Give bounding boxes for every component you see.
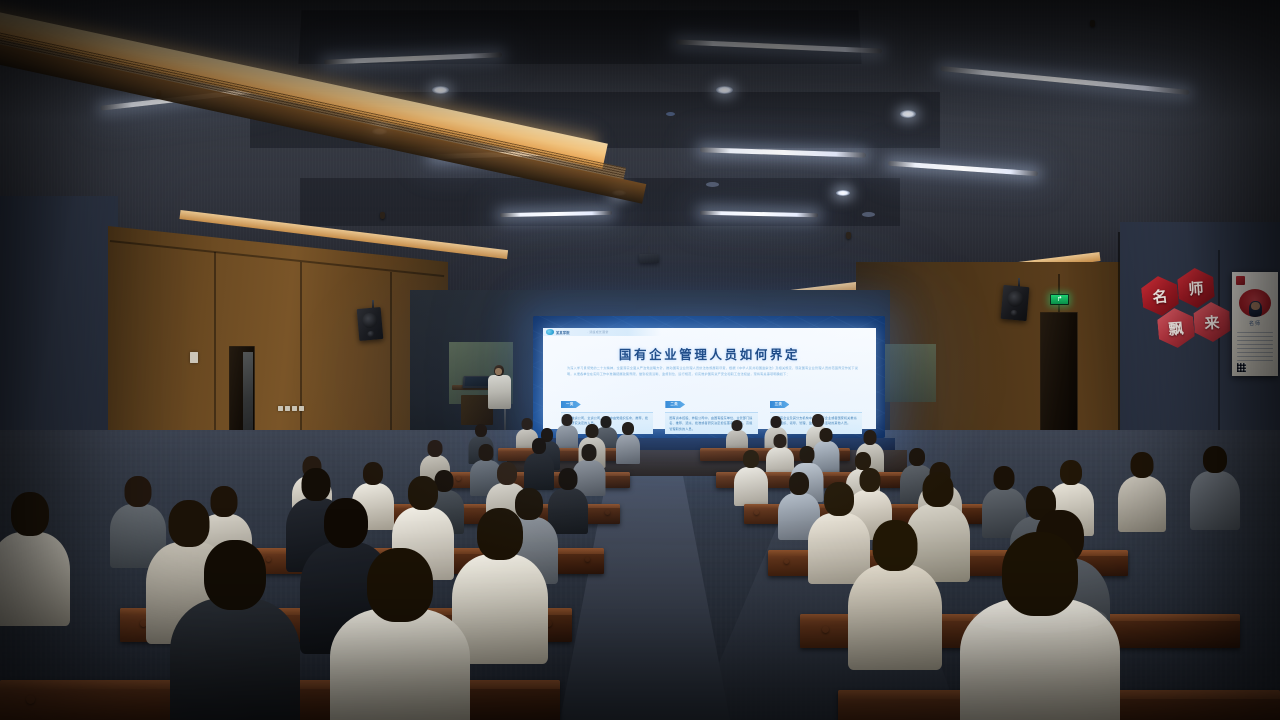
person-head [824, 482, 854, 516]
person-torso [170, 598, 300, 720]
person-head [1203, 446, 1227, 473]
person-head [732, 420, 743, 431]
poster-text-lines [1237, 332, 1273, 364]
smoke-detector-icon [706, 182, 719, 187]
person-head [864, 430, 877, 445]
person-head [799, 446, 814, 463]
slide-box-tag: 三类 [770, 401, 790, 408]
person-torso [960, 598, 1120, 720]
bench-knob [754, 510, 759, 515]
audience-member [0, 492, 70, 626]
banner-hex-4: 来 [1193, 301, 1231, 343]
slide-logo-icon [546, 329, 554, 334]
person-head [522, 418, 533, 430]
speaker-cone-icon [362, 312, 378, 328]
speaker-tweeter-icon [1010, 310, 1017, 317]
person-head [559, 468, 578, 490]
person-head [743, 450, 759, 468]
banner-hex-char: 师 [1188, 277, 1204, 299]
person-torso [330, 608, 470, 720]
person-torso [734, 467, 768, 506]
person-head [1131, 452, 1154, 478]
slide-title: 国有企业管理人员如何界定 [543, 344, 876, 363]
slide-logo-subtext: · 清廉成长课堂 [587, 330, 609, 334]
audience-member-foreground [960, 532, 1120, 720]
person-head [477, 508, 523, 560]
person-head [324, 498, 368, 548]
person-head [770, 416, 781, 428]
person-head [789, 472, 809, 495]
person-head [363, 462, 383, 485]
person-head [581, 444, 596, 461]
speaker-left [357, 307, 384, 341]
presenter-body [488, 375, 511, 409]
banner-hex-char: 名 [1151, 285, 1168, 307]
wall-outlet-row-left[interactable] [278, 406, 304, 411]
person-head [367, 548, 433, 622]
person-head [873, 520, 918, 571]
audience-member-foreground [330, 548, 470, 720]
conference-hall-photo: ↱ 名 师 飘 来 名师 [0, 0, 1280, 720]
poster-seal-icon [1236, 276, 1245, 285]
slide-box-tag: 二类 [665, 401, 685, 408]
smoke-detector-icon [862, 212, 875, 217]
projector-mount [648, 246, 650, 254]
audience-member [1190, 446, 1240, 530]
audience-member-foreground [170, 540, 300, 720]
wall-outlet[interactable] [299, 406, 304, 411]
person-head [622, 422, 634, 435]
person-head [204, 540, 266, 610]
poster-name-label: 名师 [1232, 320, 1278, 327]
person-head [302, 468, 331, 501]
banner-hex-char: 来 [1204, 311, 1220, 333]
wall-seam [390, 272, 392, 452]
slide-box-tag: 一类 [561, 401, 581, 408]
downlight [836, 190, 850, 196]
speaker-right [1001, 285, 1030, 321]
slide-logo-text: 某某学院 [556, 329, 570, 335]
bench-knob [26, 695, 35, 704]
ceiling-panel [298, 10, 861, 64]
person-head [532, 438, 546, 454]
person-head [819, 428, 832, 442]
person-head [475, 424, 487, 437]
bench-row [498, 448, 630, 461]
slide-box: 二类 国有资本控股、参股公司中，由国有股东单位、主管部门提名、推荐、选派、批准或… [665, 392, 757, 423]
person-head [774, 434, 787, 448]
wall-seam [300, 262, 302, 457]
person-head [923, 472, 954, 507]
wall-poster: 名师 [1232, 272, 1278, 376]
person-head [408, 476, 438, 510]
person-torso [0, 532, 70, 626]
poster-portrait [1249, 301, 1262, 317]
person-head [11, 492, 49, 536]
person-head [479, 444, 494, 461]
slide-paragraph: 为深入学习贯彻党的二十大精神，全面落实全面从严治党战略方针，推动国有企业管理人员… [567, 366, 858, 377]
person-head [1002, 532, 1078, 616]
poster-portrait-frame [1239, 289, 1271, 317]
person-head [428, 440, 443, 457]
person-head [585, 424, 598, 438]
bench-knob [585, 557, 590, 562]
sprinkler-icon [1090, 20, 1095, 27]
door-handle-right[interactable] [1066, 372, 1068, 381]
projection-screen[interactable]: 某某学院 · 清廉成长课堂 国有企业管理人员如何界定 为深入学习贯彻党的二十大精… [533, 316, 885, 438]
wall-outlet[interactable] [285, 406, 290, 411]
wall-outlet[interactable] [278, 406, 283, 411]
person-torso [848, 564, 942, 670]
wall-banner-hexagons: 名 师 飘 来 [1140, 266, 1236, 352]
bench-knob [784, 559, 789, 564]
bench-knob [605, 510, 610, 515]
sprinkler-icon [846, 232, 851, 239]
person-head [497, 462, 517, 485]
audience-member [616, 422, 640, 464]
smoke-detector-icon [666, 112, 675, 116]
audience-member [848, 520, 942, 670]
sprinkler-icon [380, 212, 385, 219]
downlight [432, 86, 449, 94]
audience-member [1118, 452, 1166, 532]
banner-hex-2: 师 [1177, 267, 1216, 309]
qr-code-icon [1237, 363, 1246, 372]
speaker-tweeter-icon [367, 331, 374, 338]
bench-backrest [498, 448, 630, 451]
person-head [812, 414, 824, 427]
downlight [716, 86, 733, 94]
bench-knob [822, 626, 829, 633]
person-torso [616, 434, 640, 464]
person-head [562, 414, 573, 426]
downlight [900, 110, 916, 118]
wall-switch-plate-left[interactable] [190, 352, 198, 363]
banner-hex-char: 飘 [1168, 317, 1185, 339]
wall-outlet[interactable] [292, 406, 297, 411]
presenter [483, 365, 517, 423]
exit-sign: ↱ [1050, 294, 1069, 305]
person-torso [1190, 471, 1240, 530]
running-man-icon: ↱ [1057, 296, 1063, 303]
acoustic-panel-right [878, 344, 936, 402]
projector [639, 254, 659, 263]
person-head [1060, 460, 1082, 485]
speaker-cone-icon [1007, 290, 1024, 307]
person-torso [1118, 476, 1166, 532]
audience-member [734, 450, 768, 506]
